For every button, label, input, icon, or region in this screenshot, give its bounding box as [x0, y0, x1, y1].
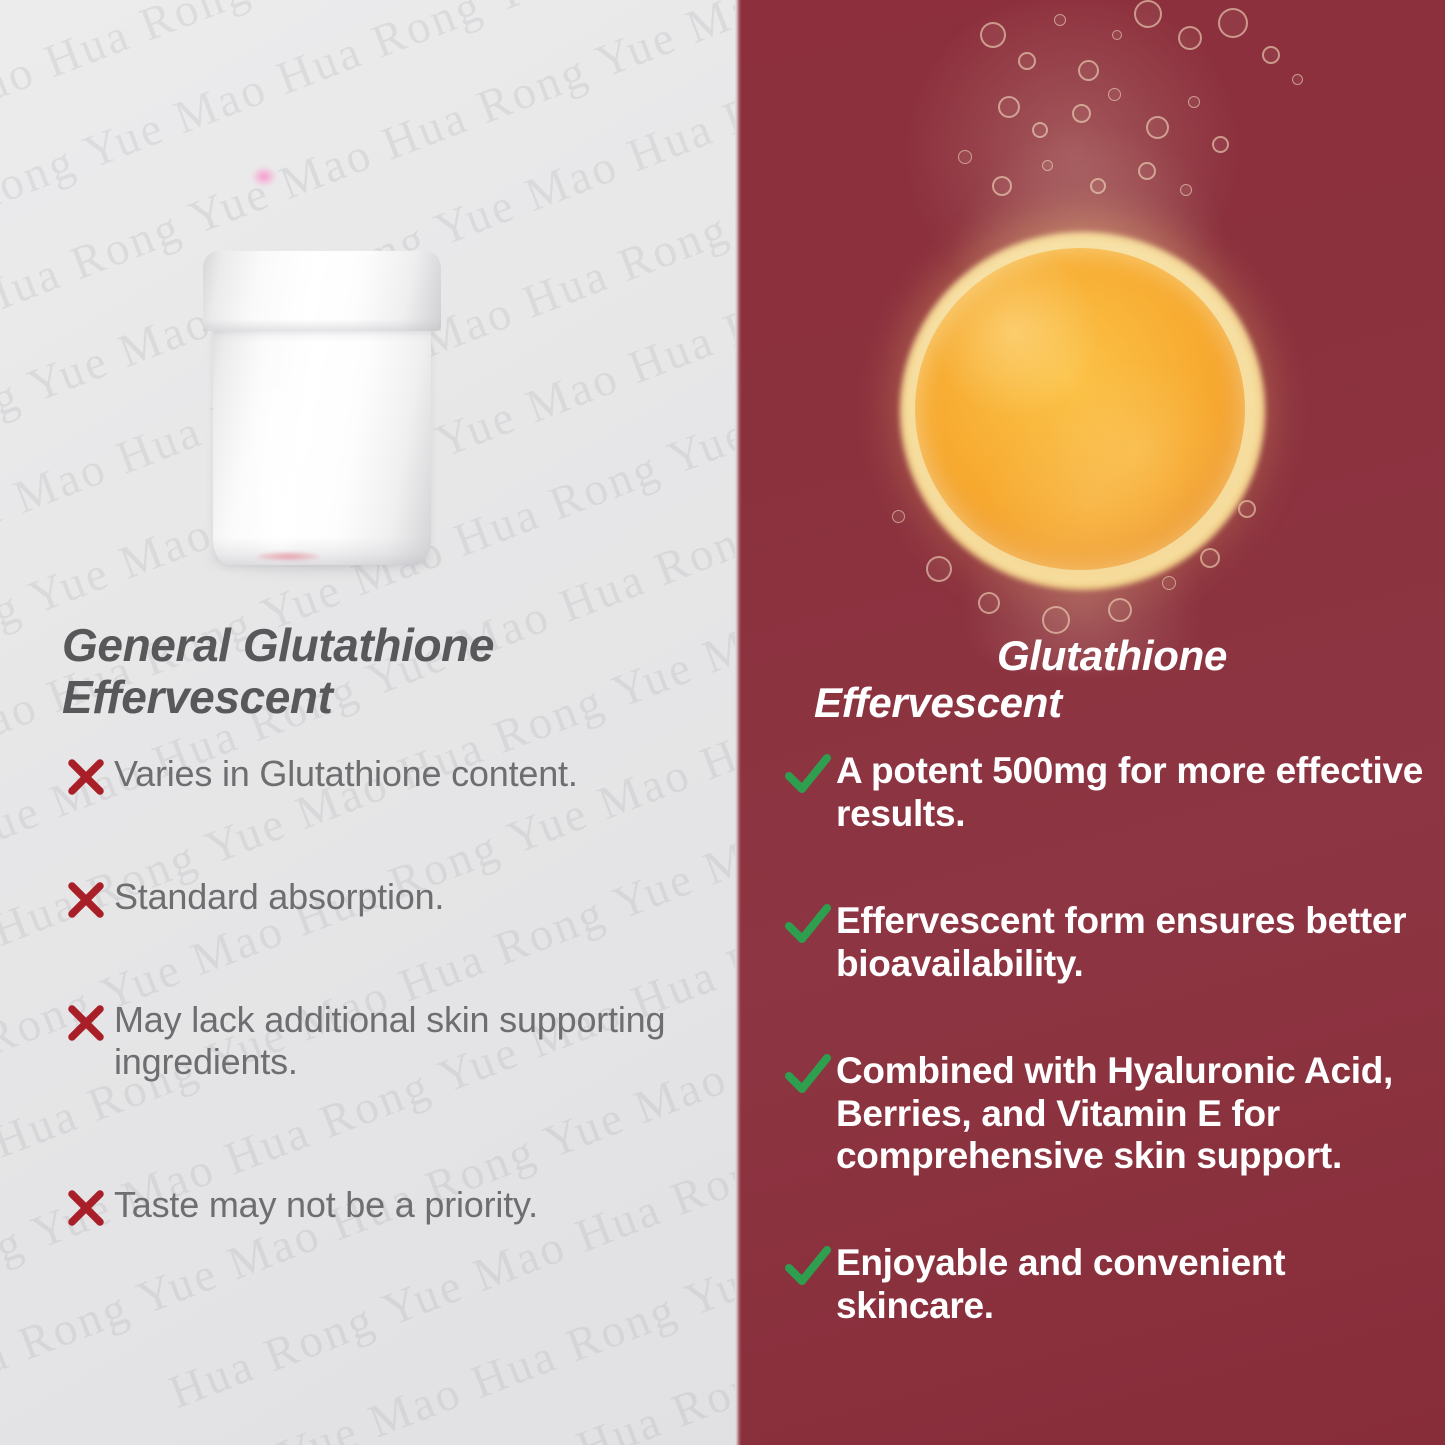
- list-item-label: Effervescent form ensures better bioavai…: [836, 900, 1440, 986]
- right-heading-line2: Effervescent: [802, 679, 1422, 726]
- list-item: Combined with Hyaluronic Acid, Berries, …: [780, 1050, 1440, 1179]
- watermark-line: Hua Rong Yue Mao Hua Rong Yue Mao Hua Ro…: [0, 0, 733, 46]
- list-item: Effervescent form ensures better bioavai…: [780, 900, 1440, 986]
- product-comparison-infographic: Hua Rong Yue Mao Hua Rong Yue Mao Hua Ro…: [0, 0, 1445, 1445]
- featured-product-panel: Glutathione Effervescent A potent 500mg …: [742, 0, 1445, 1445]
- left-panel-bullet-list: Varies in Glutathione content. Standard …: [58, 752, 708, 1228]
- list-item-label: Combined with Hyaluronic Acid, Berries, …: [836, 1050, 1440, 1179]
- left-heading-line2: Effervescent: [62, 671, 333, 723]
- list-item-label: A potent 500mg for more effective result…: [836, 750, 1440, 836]
- jar-bottom-tint: [257, 552, 319, 561]
- watermark-line: Hua Rong Yue Mao Hua Rong Yue Mao Hua Ro…: [0, 1220, 735, 1445]
- left-heading-line1: General Glutathione: [62, 619, 494, 671]
- check-icon: [780, 900, 836, 946]
- check-icon: [780, 1050, 836, 1096]
- jar-body: [213, 307, 431, 565]
- pink-speck-artifact: [253, 168, 275, 185]
- list-item: May lack additional skin supporting ingr…: [58, 998, 708, 1083]
- cross-icon: [58, 998, 114, 1043]
- right-panel-bullet-list: A potent 500mg for more effective result…: [780, 750, 1440, 1328]
- white-supplement-jar: [195, 245, 450, 570]
- list-item-label: Taste may not be a priority.: [114, 1183, 708, 1226]
- list-item-label: Standard absorption.: [114, 875, 708, 918]
- right-heading-line1: Glutathione: [997, 632, 1227, 679]
- check-icon: [780, 750, 836, 796]
- list-item: Enjoyable and convenient skincare.: [780, 1242, 1440, 1328]
- generic-product-panel: Hua Rong Yue Mao Hua Rong Yue Mao Hua Ro…: [0, 0, 735, 1445]
- jar-lid: [203, 251, 441, 331]
- left-panel-heading: General Glutathione Effervescent: [62, 620, 682, 723]
- cross-icon: [58, 875, 114, 920]
- list-item: Varies in Glutathione content.: [58, 752, 708, 797]
- cross-icon: [58, 752, 114, 797]
- watermark-line: Hua Rong Yue Mao Hua Rong Yue Mao Hua Ro…: [0, 0, 735, 138]
- list-item-label: Varies in Glutathione content.: [114, 752, 708, 795]
- orange-effervescent-tablet: [852, 180, 1312, 640]
- list-item: Standard absorption.: [58, 875, 708, 920]
- list-item-label: Enjoyable and convenient skincare.: [836, 1242, 1440, 1328]
- list-item-label: May lack additional skin supporting ingr…: [114, 998, 708, 1083]
- cross-icon: [58, 1183, 114, 1228]
- watermark-line: Hua Rong Yue Mao Hua Rong Yue Mao Hua Ro…: [25, 1313, 735, 1445]
- check-icon: [780, 1242, 836, 1288]
- list-item: A potent 500mg for more effective result…: [780, 750, 1440, 836]
- tablet-rim-highlight: [907, 240, 1257, 584]
- panel-divider: [735, 0, 742, 1445]
- list-item: Taste may not be a priority.: [58, 1183, 708, 1228]
- watermark-line: Hua Rong Yue Mao Hua Rong Yue Mao Hua Ro…: [0, 0, 735, 231]
- watermark-line: Hua Rong Yue Mao Hua Rong Yue Mao Hua Ro…: [61, 1405, 735, 1445]
- jar-highlight: [251, 385, 303, 553]
- right-panel-heading: Glutathione Effervescent: [802, 632, 1422, 726]
